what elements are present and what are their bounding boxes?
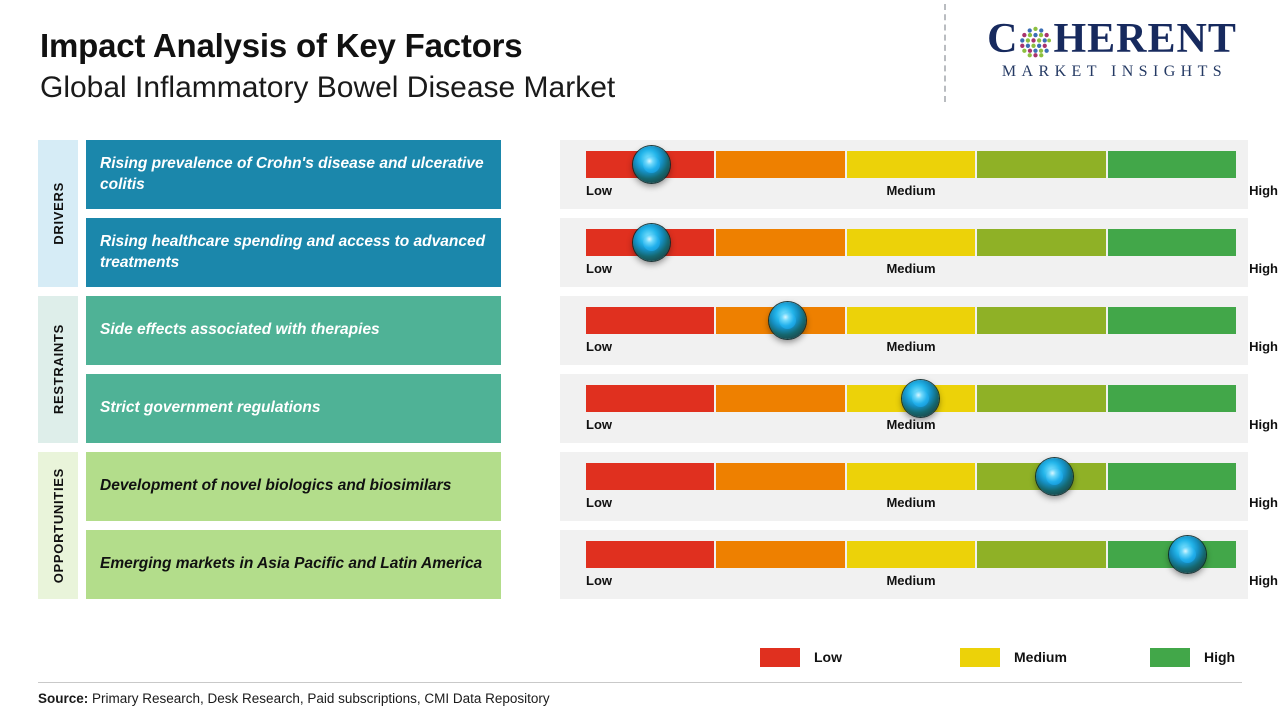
gauge-marker-icon[interactable]	[902, 380, 939, 417]
section-label-opportunities: OPPORTUNITIES	[38, 452, 78, 599]
gauge-label-low: Low	[586, 417, 612, 432]
impact-gauge: LowMediumHigh	[560, 374, 1248, 443]
legend-item: Low	[760, 644, 842, 670]
gauge-label-medium: Medium	[886, 573, 935, 588]
gauge-label-low: Low	[586, 573, 612, 588]
gauge-segment-1	[586, 541, 714, 568]
gauge-segment-3	[847, 229, 975, 256]
section-rows: Rising prevalence of Crohn's disease and…	[86, 140, 1248, 287]
gauge-label-high: High	[1249, 339, 1278, 354]
gauge-segment-2	[716, 463, 844, 490]
gauge-segment-2	[716, 151, 844, 178]
factor-row: Rising prevalence of Crohn's disease and…	[86, 140, 1248, 209]
title-block: Impact Analysis of Key Factors Global In…	[40, 28, 900, 106]
gauge-segment-4	[977, 541, 1105, 568]
source-text: Primary Research, Desk Research, Paid su…	[88, 691, 549, 706]
gauge-segment-1	[586, 463, 714, 490]
factor-row: Strict government regulationsLowMediumHi…	[86, 374, 1248, 443]
gauge-scale-labels: LowMediumHigh	[586, 417, 1236, 437]
source-label: Source:	[38, 691, 88, 706]
coherent-market-insights-logo: C	[962, 18, 1262, 81]
factor-row: Emerging markets in Asia Pacific and Lat…	[86, 530, 1248, 599]
gauge-marker-icon[interactable]	[769, 302, 806, 339]
gauge-segment-5	[1108, 463, 1236, 490]
factor-box: Development of novel biologics and biosi…	[86, 452, 501, 521]
factor-row: Development of novel biologics and biosi…	[86, 452, 1248, 521]
gauge-scale-labels: LowMediumHigh	[586, 573, 1236, 593]
legend-swatch-low	[760, 648, 800, 667]
gauge-segment-4	[977, 229, 1105, 256]
legend-swatch-high	[1150, 648, 1190, 667]
page-title: Impact Analysis of Key Factors	[40, 28, 900, 65]
gauge-label-high: High	[1249, 495, 1278, 510]
legend-item: Medium	[960, 644, 1067, 670]
section-label-text: DRIVERS	[51, 182, 66, 245]
gauge-segment-1	[586, 385, 714, 412]
globe-dots-icon	[1019, 25, 1052, 58]
impact-gauge: LowMediumHigh	[560, 296, 1248, 365]
gauge-segment-3	[847, 463, 975, 490]
gauge-bar	[586, 541, 1236, 568]
footer-divider	[38, 682, 1242, 683]
section-restraints: RESTRAINTSSide effects associated with t…	[38, 296, 1248, 443]
logo-tagline: MARKET INSIGHTS	[962, 63, 1262, 81]
gauge-segment-3	[847, 307, 975, 334]
gauge-label-high: High	[1249, 183, 1278, 198]
logo-divider	[944, 4, 946, 102]
gauge-label-high: High	[1249, 417, 1278, 432]
gauge-label-low: Low	[586, 495, 612, 510]
gauge-label-medium: Medium	[886, 339, 935, 354]
gauge-bar	[586, 229, 1236, 256]
gauge-segment-5	[1108, 229, 1236, 256]
factor-box: Side effects associated with therapies	[86, 296, 501, 365]
legend-label: Low	[814, 649, 842, 665]
gauge-segment-2	[716, 541, 844, 568]
gauge-bar	[586, 307, 1236, 334]
section-rows: Development of novel biologics and biosi…	[86, 452, 1248, 599]
gauge-label-low: Low	[586, 261, 612, 276]
impact-gauge: LowMediumHigh	[560, 530, 1248, 599]
section-label-text: RESTRAINTS	[51, 324, 66, 414]
gauge-scale-labels: LowMediumHigh	[586, 339, 1236, 359]
gauge-label-medium: Medium	[886, 495, 935, 510]
logo-letter-c: C	[987, 18, 1018, 60]
factor-box: Rising healthcare spending and access to…	[86, 218, 501, 287]
gauge-label-medium: Medium	[886, 261, 935, 276]
gauge-segment-3	[847, 541, 975, 568]
gauge-segment-4	[977, 385, 1105, 412]
factor-text: Rising prevalence of Crohn's disease and…	[100, 154, 487, 194]
gauge-label-low: Low	[586, 183, 612, 198]
gauge-scale-labels: LowMediumHigh	[586, 495, 1236, 515]
gauge-scale-labels: LowMediumHigh	[586, 183, 1236, 203]
gauge-segment-3	[847, 151, 975, 178]
impact-matrix: DRIVERSRising prevalence of Crohn's dise…	[0, 140, 1280, 613]
gauge-marker-icon[interactable]	[633, 146, 670, 183]
gauge-segment-1	[586, 307, 714, 334]
gauge-label-medium: Medium	[886, 183, 935, 198]
section-label-text: OPPORTUNITIES	[51, 468, 66, 583]
section-label-drivers: DRIVERS	[38, 140, 78, 287]
factor-text: Emerging markets in Asia Pacific and Lat…	[100, 554, 482, 574]
section-label-restraints: RESTRAINTS	[38, 296, 78, 443]
gauge-marker-icon[interactable]	[1169, 536, 1206, 573]
factor-box: Emerging markets in Asia Pacific and Lat…	[86, 530, 501, 599]
gauge-segment-2	[716, 385, 844, 412]
section-drivers: DRIVERSRising prevalence of Crohn's dise…	[38, 140, 1248, 287]
factor-text: Strict government regulations	[100, 398, 320, 418]
legend: LowMediumHigh	[760, 644, 1220, 670]
gauge-segment-5	[1108, 307, 1236, 334]
gauge-scale-labels: LowMediumHigh	[586, 261, 1236, 281]
legend-label: High	[1204, 649, 1235, 665]
legend-swatch-medium	[960, 648, 1000, 667]
factor-text: Side effects associated with therapies	[100, 320, 380, 340]
gauge-bar	[586, 463, 1236, 490]
section-rows: Side effects associated with therapiesLo…	[86, 296, 1248, 443]
section-opportunities: OPPORTUNITIESDevelopment of novel biolog…	[38, 452, 1248, 599]
impact-gauge: LowMediumHigh	[560, 140, 1248, 209]
impact-gauge: LowMediumHigh	[560, 218, 1248, 287]
gauge-marker-icon[interactable]	[633, 224, 670, 261]
gauge-label-high: High	[1249, 573, 1278, 588]
gauge-label-low: Low	[586, 339, 612, 354]
page-header: Impact Analysis of Key Factors Global In…	[0, 0, 1280, 132]
gauge-label-medium: Medium	[886, 417, 935, 432]
factor-box: Strict government regulations	[86, 374, 501, 443]
legend-item: High	[1150, 644, 1235, 670]
factor-row: Side effects associated with therapiesLo…	[86, 296, 1248, 365]
gauge-segment-2	[716, 229, 844, 256]
gauge-marker-icon[interactable]	[1036, 458, 1073, 495]
gauge-bar	[586, 151, 1236, 178]
logo-word-herent: HERENT	[1053, 18, 1236, 60]
gauge-segment-5	[1108, 385, 1236, 412]
gauge-label-high: High	[1249, 261, 1278, 276]
gauge-segment-5	[1108, 151, 1236, 178]
factor-row: Rising healthcare spending and access to…	[86, 218, 1248, 287]
factor-box: Rising prevalence of Crohn's disease and…	[86, 140, 501, 209]
legend-label: Medium	[1014, 649, 1067, 665]
source-note: Source: Primary Research, Desk Research,…	[38, 691, 550, 706]
gauge-segment-4	[977, 307, 1105, 334]
impact-gauge: LowMediumHigh	[560, 452, 1248, 521]
logo-wordmark: C	[962, 18, 1262, 60]
factor-text: Development of novel biologics and biosi…	[100, 476, 451, 496]
page-subtitle: Global Inflammatory Bowel Disease Market	[40, 70, 900, 106]
factor-text: Rising healthcare spending and access to…	[100, 232, 487, 272]
gauge-segment-4	[977, 151, 1105, 178]
